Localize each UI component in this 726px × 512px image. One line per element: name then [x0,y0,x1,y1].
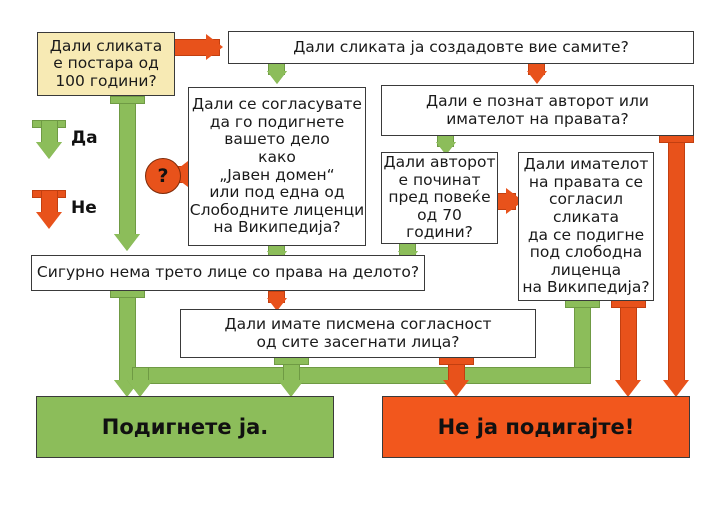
arrowhead-holder-to-do-not-upload [615,380,641,397]
node-author-deceased-70-years[interactable]: Дали авторот е починат пред повеќе од 70… [381,152,498,244]
question-circle-icon: ? [145,158,181,194]
arrowhead-self-created-to-agree [267,71,287,84]
node-rights-holder-agreed[interactable]: Дали имателот на правата се согласил сли… [518,152,654,301]
connector-holder-no-cap [611,300,646,308]
legend-yes-label: Да [71,128,98,148]
arrowhead-holder-to-upload [127,380,153,397]
legend-yes-arrow-shaft [41,120,58,144]
flowchart-canvas: Дали сликата е постара од 100 години? Да… [0,0,726,512]
connector-start-down [119,96,136,236]
connector-consent-no-cap [439,357,474,365]
node-written-consent[interactable]: Дали имате писмена согласност од сите за… [180,309,536,358]
node-no-third-party-label: Сигурно нема трето лице со права на дело… [37,264,419,282]
arrowhead-consent-to-upload [278,380,304,397]
connector-author-known-to-do-not-upload [668,135,685,383]
terminal-upload-label: Подигнете ја. [102,415,268,439]
terminal-do-not-upload[interactable]: Не ја подигајте! [382,396,690,458]
connector-no-third-party-cap [110,290,145,298]
terminal-do-not-upload-label: Не ја подигајте! [438,415,635,439]
connector-author-known-cap [659,135,694,143]
node-no-third-party-rights[interactable]: Сигурно нема трето лице со права на дело… [31,255,425,291]
node-agree-free-license-label: Дали се согласувате да го подигнете ваше… [190,96,365,237]
node-written-consent-label: Дали имате писмена согласност од сите за… [224,316,491,351]
node-author-deceased-label: Дали авторот е починат пред повеќе од 70… [382,154,497,242]
arrowhead-start-to-no-third-party [114,234,140,251]
node-start-label: Дали сликата е постара од 100 години? [50,38,162,91]
arrowhead-author-known-to-do-not-upload [663,380,689,397]
arrowhead-consent-to-do-not-upload [443,380,469,397]
node-self-created-label: Дали сликата ја создадовте вие самите? [293,39,629,57]
node-rights-holder-agreed-label: Дали имателот на правата се согласил сли… [519,156,653,297]
node-author-known[interactable]: Дали е познат авторот или имателот на пр… [381,85,694,136]
terminal-upload-it[interactable]: Подигнете ја. [36,396,334,458]
node-start-image-older-than-100[interactable]: Дали сликата е постара од 100 години? [37,32,175,96]
node-agree-free-license[interactable]: Дали се согласувате да го подигнете ваше… [188,87,366,246]
legend-no-label: Не [71,198,97,218]
connector-holder-left [132,367,591,384]
legend-no-arrow-head [36,212,62,229]
legend-no-arrow-shaft [41,190,58,214]
arrowhead-self-created-to-author-known [527,71,547,84]
question-mark-label: ? [157,165,168,187]
connector-start-down-cap [110,96,145,104]
connector-consent-cap [274,357,309,365]
node-author-known-label: Дали е познат авторот или имателот на пр… [426,93,649,128]
arrowhead-start-to-self-created [206,34,223,60]
node-self-created[interactable]: Дали сликата ја создадовте вие самите? [228,31,694,64]
connector-holder-cap [565,300,600,308]
legend-yes-arrow-head [36,142,62,159]
connector-holder-to-do-not-upload [620,300,637,383]
connector-holder-down [574,300,591,374]
